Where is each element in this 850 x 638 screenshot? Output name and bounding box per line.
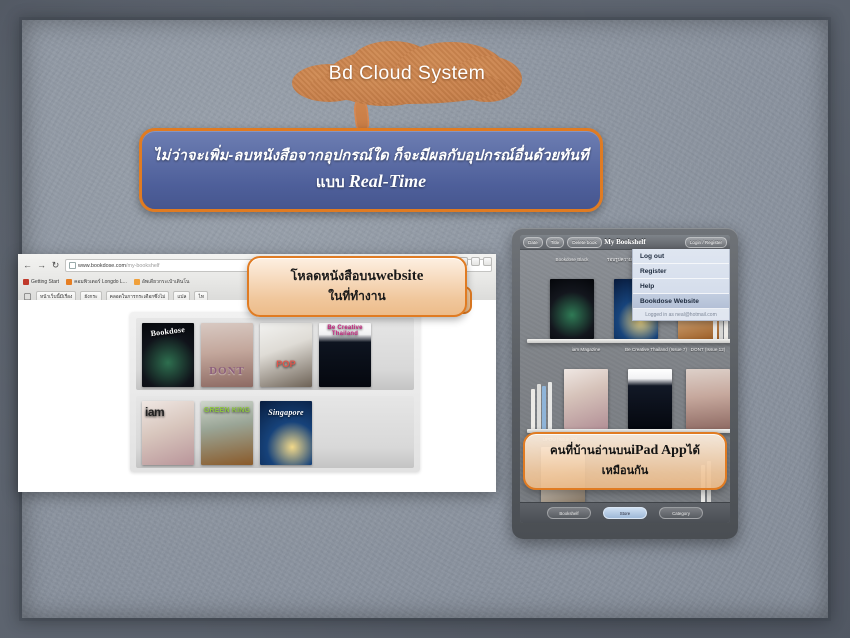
slide-canvas: Bd Cloud System ไม่ว่าจะเพิ่ม-ลบหนังสือจ… [0,0,850,638]
close-icon[interactable] [483,257,492,266]
book-label: DONT (Issue 12) [679,347,730,352]
url-domain: www.bookdose.com [78,263,126,269]
book-cover[interactable] [628,369,672,429]
menu-item-register[interactable]: Register [633,264,729,279]
shelf-row: Bookdose DONT POP Be Creative Thailand [136,318,414,390]
book-spine [537,384,541,429]
bookmark-item[interactable]: อัพเดียวกระเป๋าเดินโน [134,278,190,286]
shelf-board [527,339,730,343]
book-cover[interactable] [550,279,594,339]
logged-in-status: Logged in as neal@hotmail.com [633,309,729,320]
book-title: Be Creative Thailand [319,325,371,341]
callout-web-line-2: ในที่ทำงาน [328,287,385,306]
ipad-toolbar: Date Title Delete book My Bookshelf Logi… [520,235,730,250]
bookmark-item[interactable]: Getting Start [23,279,59,285]
book-cover[interactable]: DONT [201,323,253,387]
book-label: iam Magazine [557,347,615,352]
book-title: Bookdose [142,324,194,343]
caption-emphasis: Real-Time [349,171,426,191]
reload-icon[interactable]: ↻ [51,261,60,270]
callout-ipad-thai-a: คนที่บ้านอ่านบน [550,445,631,457]
bookmark-label: Getting Start [31,279,59,285]
menu-item-log-out[interactable]: Log out [633,249,729,264]
book-title: iam [145,405,164,423]
callout-ipad-line-1: คนที่บ้านอ่านบนiPad Appได้ [550,443,700,460]
caption-box: ไม่ว่าจะเพิ่ม-ลบหนังสือจากอุปกรณ์ใด ก็จะ… [139,128,603,212]
caption-line-1: ไม่ว่าจะเพิ่ม-ลบหนังสือจากอุปกรณ์ใด ก็จะ… [153,146,589,167]
favicon-icon [134,279,140,285]
bookmark-item[interactable]: คอมพิวเตอร์ Longdo L... [66,278,127,286]
callout-web-en: website [376,268,424,284]
callout-web-thai: โหลดหนังสือบน [291,269,376,283]
page-info-icon [69,262,76,269]
favicon-icon [23,279,29,285]
bookmark-label: อัพเดียวกระเป๋าเดินโน [142,278,190,286]
tab-bookshelf[interactable]: Bookshelf [547,507,591,519]
sort-title-button[interactable]: Title [546,237,565,248]
book-label: Bookdose Black [543,257,601,262]
book-title: POP [260,359,312,373]
maximize-icon[interactable] [471,257,480,266]
book-cover[interactable]: iam [142,401,194,465]
caption-prefix: แบบ [316,174,349,191]
login-register-button[interactable]: Login / Register [685,237,727,248]
shelf-row: iam GREEN KING Singapore [136,396,414,468]
tab-category[interactable]: Category [659,507,703,519]
ipad-tab-bar: Bookshelf Store Category [520,502,730,523]
book-title: GREEN KING [201,407,253,418]
callout-web-line-1: โหลดหนังสือบนwebsite [291,267,424,286]
book-spine [542,386,546,429]
menu-item-help[interactable]: Help [633,279,729,294]
cloud-title-shape: Bd Cloud System [292,40,522,106]
book-spine [548,382,552,429]
callout-ipad-en: iPad App [631,443,687,458]
page-title: Bd Cloud System [292,40,522,106]
callout-ipad-thai-b: ได้ [687,445,700,457]
account-dropdown-menu[interactable]: Log out Register Help Bookdose Website L… [632,249,730,321]
browser-viewport: Bookdose DONT POP Be Creative Thailand i… [18,300,496,492]
book-spine [531,389,535,429]
book-title: DONT [201,365,253,381]
callout-website: โหลดหนังสือบนwebsite ในที่ทำงาน [247,256,467,317]
ipad-screen: Date Title Delete book My Bookshelf Logi… [520,235,730,523]
tab-store[interactable]: Store [603,507,647,519]
bookmark-label: คอมพิวเตอร์ Longdo L... [74,278,127,286]
menu-item-bookdose-website[interactable]: Bookdose Website [633,294,729,309]
url-text: www.bookdose.com/my-bookshelf [78,263,160,269]
book-cover[interactable]: GREEN KING [201,401,253,465]
book-title: Singapore [260,408,312,421]
ipad-shelf-row-2: iam Magazine Be Creative Thailand (Issue… [527,347,730,433]
url-path: /my-bookshelf [126,263,160,269]
book-cover[interactable] [564,369,608,429]
callout-ipad-line-2: เหมือนกัน [602,461,649,479]
book-spines [531,381,557,429]
forward-arrow-icon[interactable]: → [37,261,46,270]
web-bookshelf: Bookdose DONT POP Be Creative Thailand i… [130,312,420,472]
book-cover[interactable]: Singapore [260,401,312,465]
book-cover[interactable]: POP [260,323,312,387]
back-arrow-icon[interactable]: ← [23,261,32,270]
book-cover[interactable]: Bookdose [142,323,194,387]
callout-ipad-app: คนที่บ้านอ่านบนiPad Appได้ เหมือนกัน [523,432,727,490]
ipad-device: Date Title Delete book My Bookshelf Logi… [512,228,738,539]
caption-line-2: แบบ Real-Time [316,170,426,194]
sort-date-button[interactable]: Date [523,237,543,248]
delete-book-button[interactable]: Delete book [567,237,602,248]
book-cover[interactable] [686,369,730,429]
book-cover[interactable]: Be Creative Thailand [319,323,371,387]
favicon-icon [66,279,72,285]
